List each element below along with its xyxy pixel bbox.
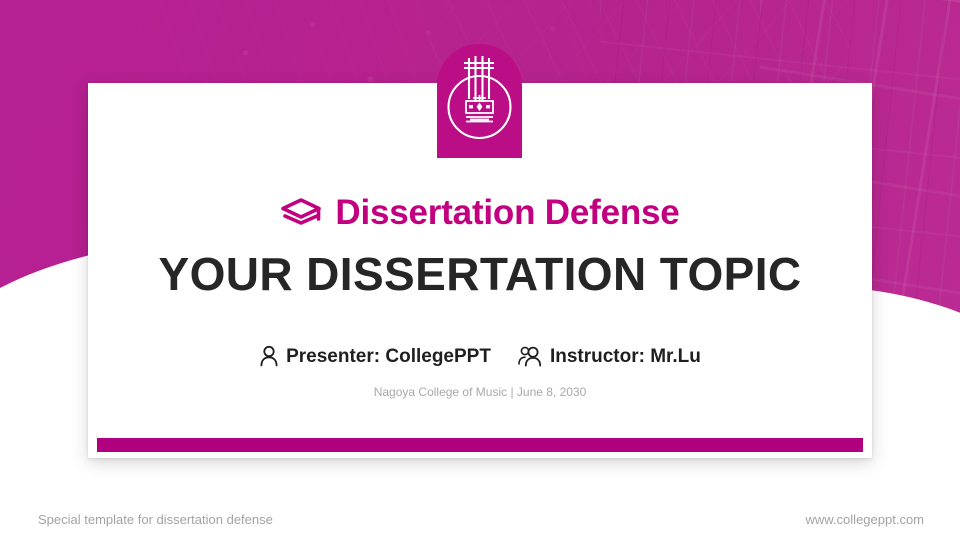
footer-note: Special template for dissertation defens… bbox=[38, 513, 273, 526]
lute-instrument-icon bbox=[437, 44, 522, 158]
footer-website[interactable]: www.collegeppt.com bbox=[806, 513, 925, 526]
presenter-credit: Presenter: CollegePPT bbox=[259, 345, 491, 367]
person-icon bbox=[259, 345, 279, 367]
card-accent-bar bbox=[97, 438, 863, 452]
presenter-label: Presenter: CollegePPT bbox=[286, 347, 491, 366]
subtitle-meta: Nagoya College of Music | June 8, 2030 bbox=[88, 386, 872, 398]
instructor-credit: Instructor: Mr.Lu bbox=[517, 345, 701, 367]
school-emblem bbox=[437, 44, 522, 158]
instructor-label: Instructor: Mr.Lu bbox=[550, 347, 701, 366]
eyebrow-row: Dissertation Defense bbox=[88, 195, 872, 230]
eyebrow-label: Dissertation Defense bbox=[335, 195, 679, 230]
graduation-cap-icon bbox=[280, 197, 322, 228]
credits-row: Presenter: CollegePPT Instructor: Mr.Lu bbox=[88, 345, 872, 367]
people-group-icon bbox=[517, 345, 543, 367]
presentation-title-slide: Dissertation Defense YOUR DISSERTATION T… bbox=[0, 0, 960, 540]
page-title: YOUR DISSERTATION TOPIC bbox=[88, 251, 872, 297]
